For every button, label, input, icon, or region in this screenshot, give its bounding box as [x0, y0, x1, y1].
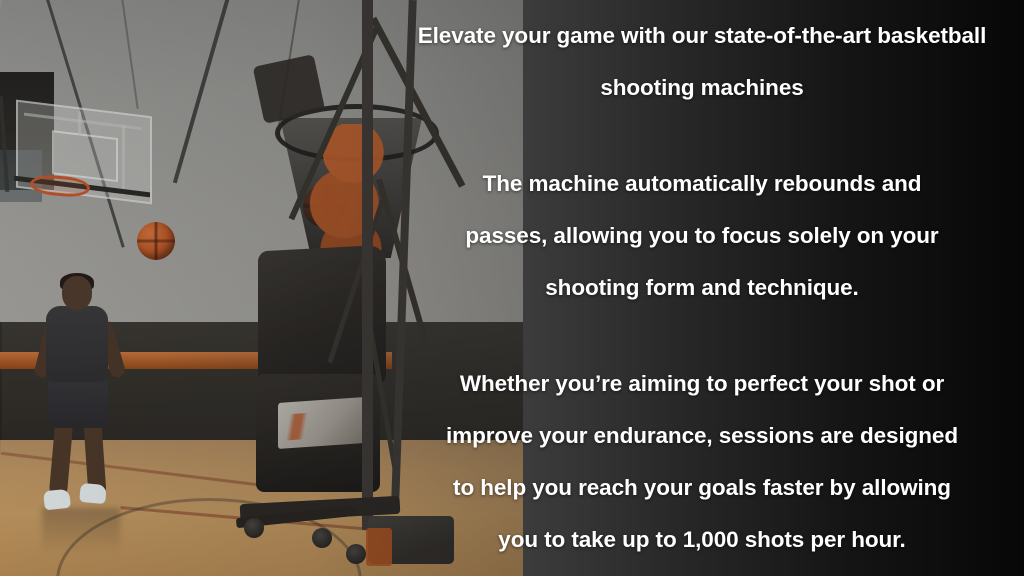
paragraph-3-line-3: to help you reach your goals faster by a… [380, 462, 1024, 514]
paragraph-3-line-1: Whether you’re aiming to perfect your sh… [380, 358, 1024, 410]
paragraph-3: Whether you’re aiming to perfect your sh… [380, 358, 1024, 566]
paragraph-3-line-2: improve your endurance, sessions are des… [380, 410, 1024, 462]
paragraph-3-line-4: you to take up to 1,000 shots per hour. [380, 514, 1024, 566]
paragraph-2-line-2: passes, allowing you to focus solely on … [380, 210, 1024, 262]
paragraph-2-line-3: shooting form and technique. [380, 262, 1024, 314]
headline-line-1: Elevate your game with our state-of-the-… [418, 23, 871, 48]
marketing-copy: Elevate your game with our state-of-the-… [380, 0, 1024, 576]
promo-slide: Elevate your game with our state-of-the-… [0, 0, 1024, 576]
paragraph-2: The machine automatically rebounds and p… [380, 158, 1024, 314]
paragraph-2-line-1: The machine automatically rebounds and [380, 158, 1024, 210]
headline: Elevate your game with our state-of-the-… [380, 10, 1024, 114]
